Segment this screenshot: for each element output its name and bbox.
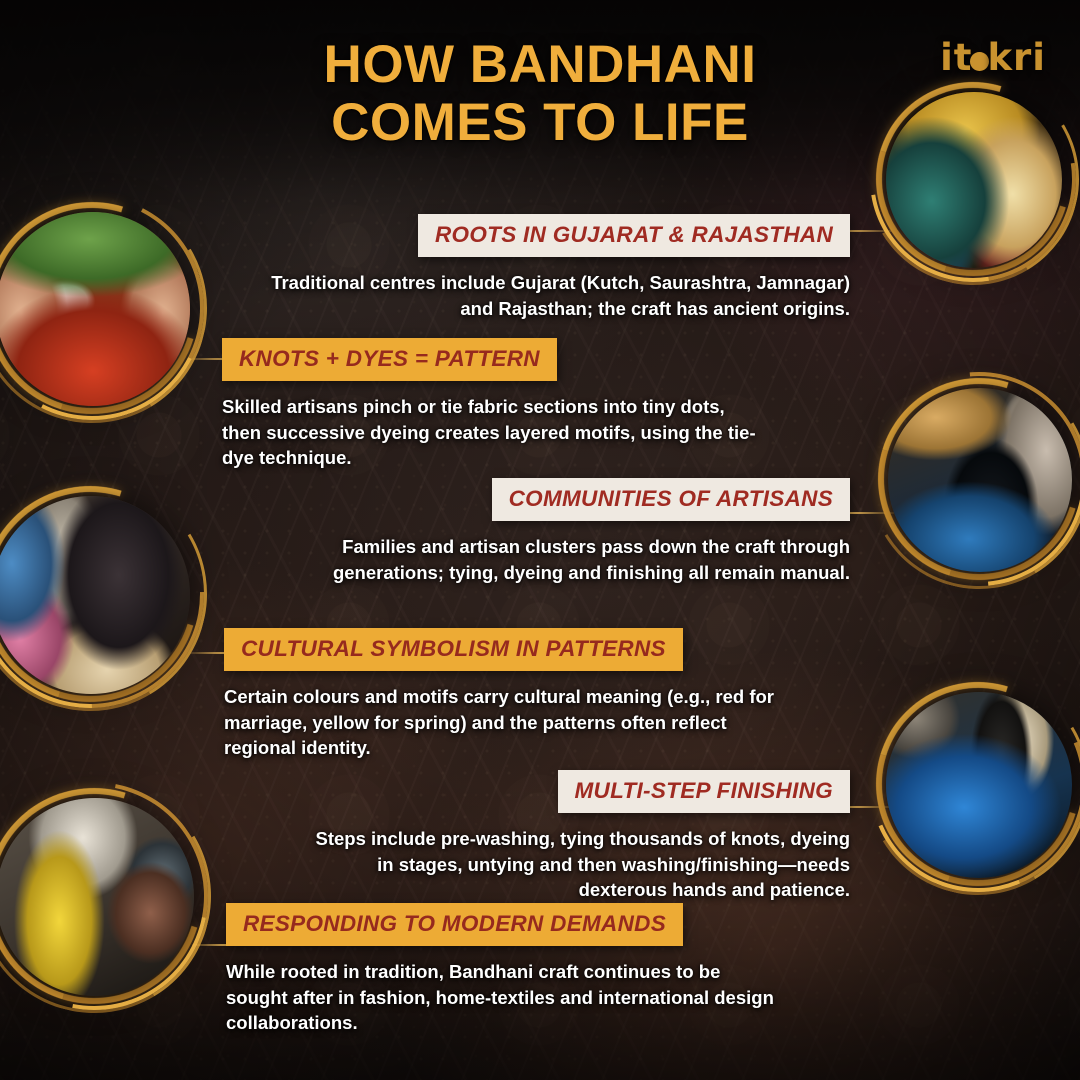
brand-text-prefix: it xyxy=(940,36,972,79)
section-body-roots: Traditional centres include Gujarat (Kut… xyxy=(250,270,850,321)
connector-line-communities xyxy=(846,512,894,514)
section-roots: ROOTS IN GUJARAT & RAJASTHAN Traditional… xyxy=(250,214,850,321)
section-finishing: MULTI-STEP FINISHING Steps include pre-w… xyxy=(300,770,850,903)
infographic-poster: HOW BANDHANI COMES TO LIFE itkri xyxy=(0,0,1080,1080)
section-modern: RESPONDING TO MODERN DEMANDS While roote… xyxy=(226,903,786,1036)
section-body-symbolism: Certain colours and motifs carry cultura… xyxy=(224,684,784,761)
photo-dyer-yellow-cloth xyxy=(0,798,194,996)
photo-hands-red-fabric xyxy=(0,212,190,406)
section-body-finishing: Steps include pre-washing, tying thousan… xyxy=(300,826,850,903)
section-heading-communities: COMMUNITIES OF ARTISANS xyxy=(492,478,850,521)
section-heading-knots: KNOTS + DYES = PATTERN xyxy=(222,338,557,381)
section-knots: KNOTS + DYES = PATTERN Skilled artisans … xyxy=(222,338,767,471)
title-line-1: HOW BANDHANI xyxy=(0,36,1080,94)
section-body-knots: Skilled artisans pinch or tie fabric sec… xyxy=(222,394,767,471)
photo-blue-dye-vat xyxy=(886,692,1072,878)
section-heading-modern: RESPONDING TO MODERN DEMANDS xyxy=(226,903,683,946)
page-title: HOW BANDHANI COMES TO LIFE xyxy=(0,36,1080,153)
brand-logo-itokri: itkri xyxy=(940,36,1046,79)
title-line-2: COMES TO LIFE xyxy=(0,94,1080,152)
section-heading-roots: ROOTS IN GUJARAT & RAJASTHAN xyxy=(418,214,850,257)
section-heading-finishing: MULTI-STEP FINISHING xyxy=(558,770,851,813)
section-symbolism: CULTURAL SYMBOLISM IN PATTERNS Certain c… xyxy=(224,628,784,761)
section-body-communities: Families and artisan clusters pass down … xyxy=(240,534,850,585)
photo-women-cream-fabric xyxy=(0,496,190,694)
section-communities: COMMUNITIES OF ARTISANS Families and art… xyxy=(240,478,850,585)
section-heading-symbolism: CULTURAL SYMBOLISM IN PATTERNS xyxy=(224,628,683,671)
brand-text-suffix: kri xyxy=(987,36,1046,79)
section-body-modern: While rooted in tradition, Bandhani craf… xyxy=(226,959,786,1036)
photo-dyer-blue-tub xyxy=(888,388,1072,572)
